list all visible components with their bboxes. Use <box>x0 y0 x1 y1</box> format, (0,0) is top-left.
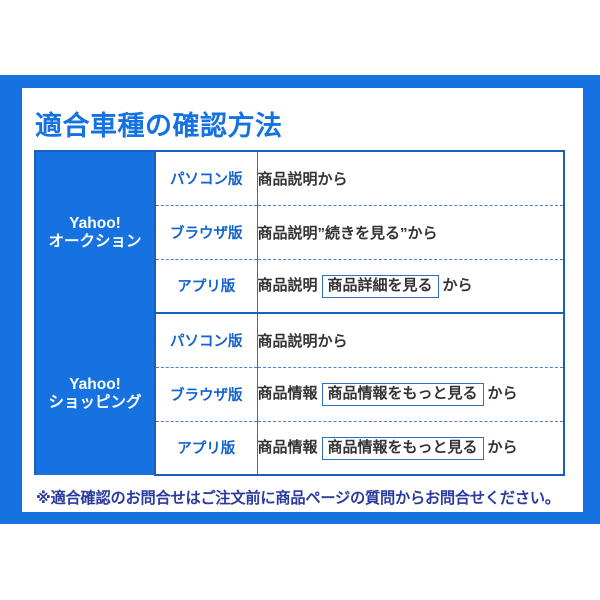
instruction-quoted: ”続きを見る” <box>318 225 408 242</box>
instruction-suffix: から <box>488 385 518 402</box>
version-label-browser: ブラウザ版 <box>155 205 257 259</box>
version-label-app: アプリ版 <box>155 259 257 313</box>
blue-outer-frame: 適合車種の確認方法 Yahoo! オークション パソコン版 商品説明から <box>0 75 600 524</box>
boxed-button-label: 商品情報をもっと見る <box>322 383 484 407</box>
instruction-prefix: 商品説明 <box>258 277 318 294</box>
screenshot-canvas: 適合車種の確認方法 Yahoo! オークション パソコン版 商品説明から <box>0 0 600 600</box>
instruction-prefix: 商品説明 <box>258 225 318 242</box>
instruction-cell: 商品説明から <box>257 313 564 367</box>
instruction-prefix: 商品情報 <box>258 385 318 402</box>
table-row: Yahoo! ショッピング パソコン版 商品説明から <box>35 313 564 367</box>
instruction-suffix: から <box>488 439 518 456</box>
brand-cell-shopping: Yahoo! ショッピング <box>35 313 155 475</box>
instruction-prefix: 商品情報 <box>258 439 318 456</box>
instruction-cell: 商品説明から <box>257 151 564 205</box>
instruction-suffix: から <box>443 277 473 294</box>
brand-cell-auction: Yahoo! オークション <box>35 151 155 313</box>
instruction-cell: 商品情報商品情報をもっと見るから <box>257 421 564 475</box>
brand-name-line2: オークション <box>36 233 154 251</box>
version-label-pc: パソコン版 <box>155 151 257 205</box>
instruction-cell: 商品説明商品詳細を見るから <box>257 259 564 313</box>
page-title: 適合車種の確認方法 <box>35 104 283 143</box>
boxed-button-label: 商品情報をもっと見る <box>322 437 484 461</box>
instruction-prefix: 商品説明から <box>258 333 348 350</box>
version-label-pc: パソコン版 <box>155 313 257 367</box>
footnote-text: ※適合確認のお問合せはご注文前に商品ページの質問からお問合せください。 <box>36 486 560 508</box>
brand-name-line1: Yahoo! <box>36 215 154 233</box>
version-label-app: アプリ版 <box>155 421 257 475</box>
compatibility-table: Yahoo! オークション パソコン版 商品説明から ブラウザ版 商品説明”続き… <box>34 150 565 476</box>
instruction-prefix: 商品説明から <box>258 171 348 188</box>
table-row: Yahoo! オークション パソコン版 商品説明から <box>35 151 564 205</box>
white-inner-panel: 適合車種の確認方法 Yahoo! オークション パソコン版 商品説明から <box>22 88 583 512</box>
brand-name-line2: ショッピング <box>36 394 154 412</box>
instruction-cell: 商品情報商品情報をもっと見るから <box>257 367 564 421</box>
instruction-suffix: から <box>408 225 438 242</box>
boxed-button-label: 商品詳細を見る <box>322 275 439 299</box>
version-label-browser: ブラウザ版 <box>155 367 257 421</box>
instruction-cell: 商品説明”続きを見る”から <box>257 205 564 259</box>
brand-name-line1: Yahoo! <box>36 376 154 394</box>
